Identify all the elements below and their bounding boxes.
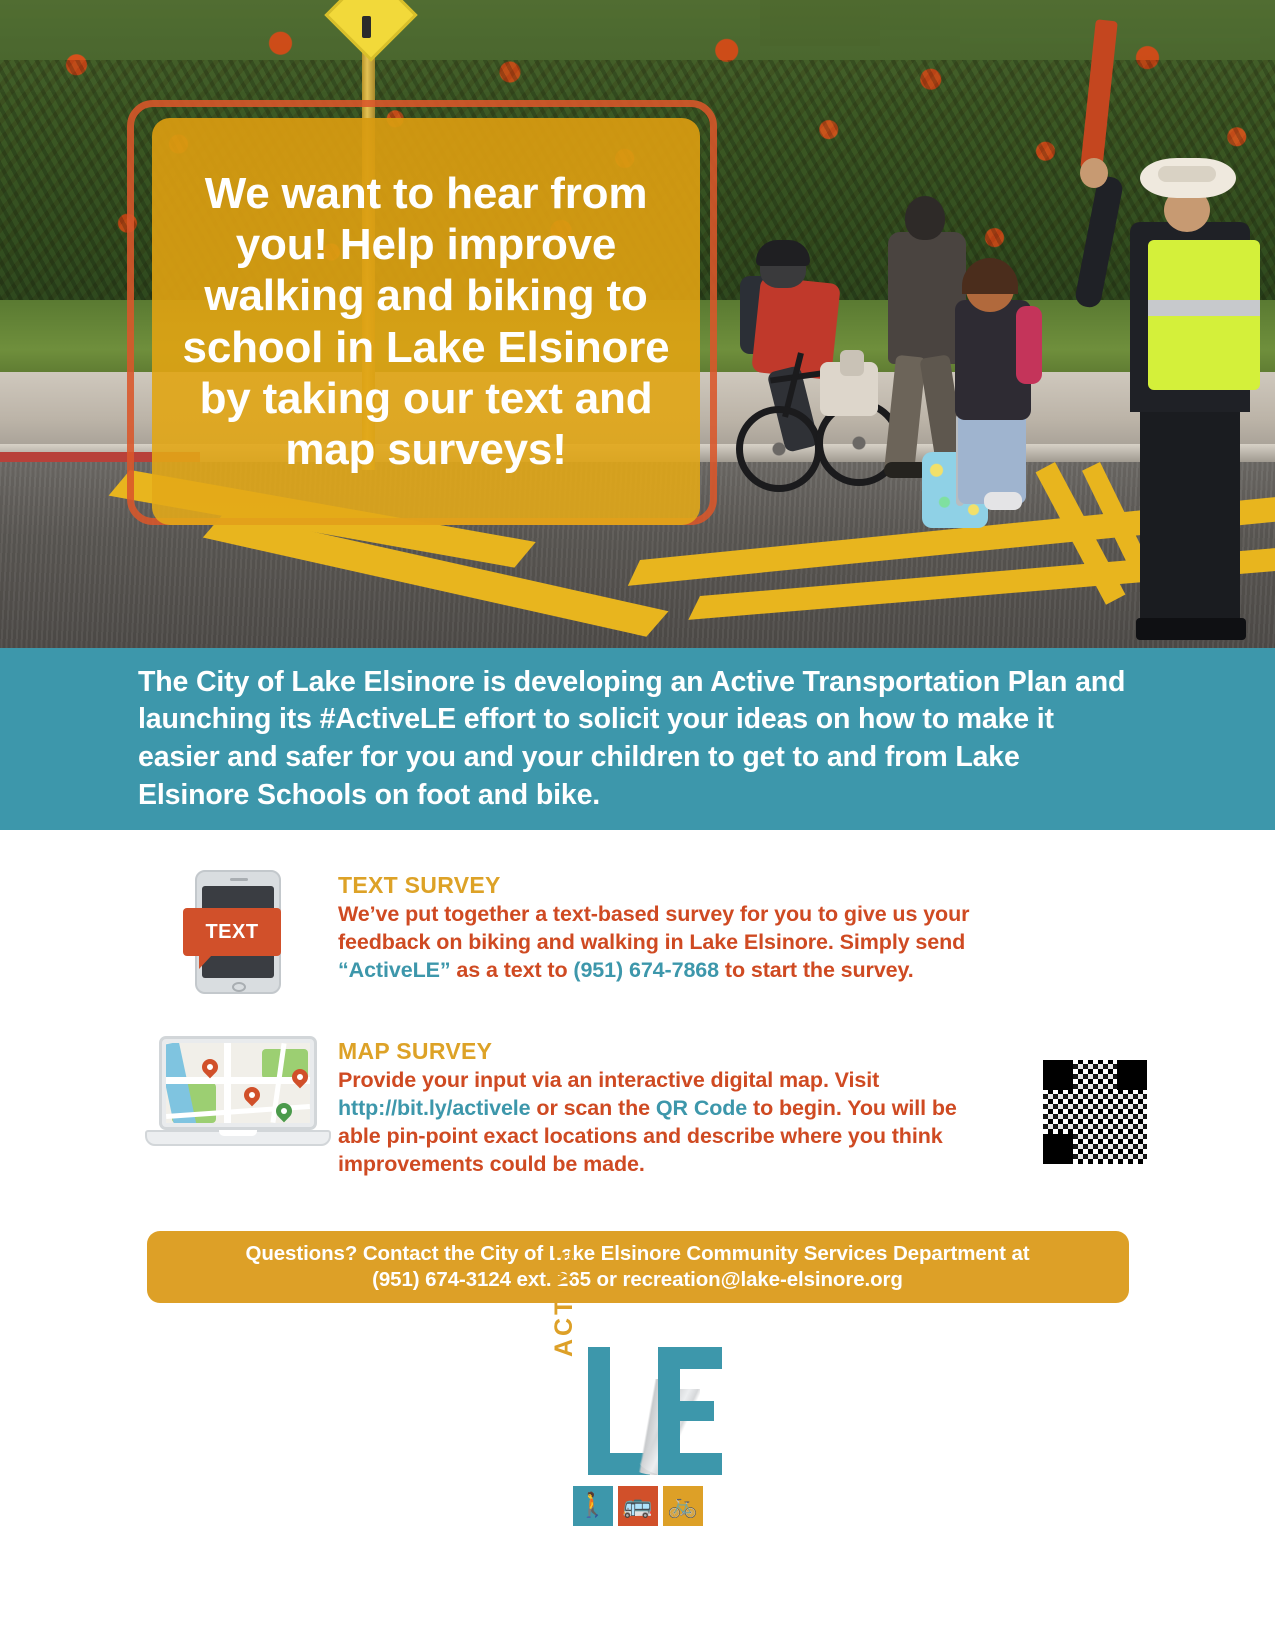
bicycle-helmet-icon	[756, 240, 810, 266]
text-survey-phone-number[interactable]: (951) 674-7868	[573, 958, 719, 982]
hat-band	[1158, 166, 1216, 182]
map-survey-content: MAP SURVEY Provide your input via an int…	[338, 1032, 1015, 1179]
map-survey-body: Provide your input via an interactive di…	[338, 1067, 998, 1179]
logo-letter-e-bar	[658, 1401, 714, 1421]
page-title: We want to hear from you! Help improve w…	[174, 168, 678, 474]
text-survey-part: as a text to	[451, 958, 574, 982]
contact-banner: Questions? Contact the City of Lake Elsi…	[147, 1231, 1129, 1303]
text-survey-part: to start the survey.	[719, 958, 914, 982]
text-survey-body: We’ve put together a text-based survey f…	[338, 901, 998, 985]
child-shoe	[984, 492, 1022, 510]
text-bubble-icon: TEXT	[183, 908, 281, 956]
logo-letter-e-bar	[658, 1453, 722, 1475]
child-pants	[958, 408, 1026, 504]
transit-icon: 🚌	[618, 1486, 658, 1526]
phone-speaker	[230, 878, 248, 881]
survey-sections: TEXT TEXT SURVEY We’ve put together a te…	[0, 830, 1275, 1179]
pedestrian-figure-icon	[362, 16, 371, 38]
laptop-map-icon	[145, 1036, 331, 1160]
text-survey-row: TEXT TEXT SURVEY We’ve put together a te…	[0, 866, 1275, 994]
laptop-trackpad-notch	[219, 1130, 257, 1136]
logo-mode-icons: 🚶 🚌 🚲	[573, 1486, 703, 1526]
map-survey-title: MAP SURVEY	[338, 1038, 1015, 1065]
intro-band: The City of Lake Elsinore is developing …	[0, 648, 1275, 830]
bicycle-wheel	[736, 406, 822, 492]
map-graphic	[166, 1043, 310, 1123]
guard-shoes	[1136, 618, 1246, 640]
text-survey-part: We’ve put together a text-based survey f…	[338, 902, 969, 954]
child-sleeve	[1016, 306, 1042, 384]
text-survey-title: TEXT SURVEY	[338, 872, 1175, 899]
pedestrian-icon: 🚶	[573, 1486, 613, 1526]
active-le-logo: ACTIVE 🚶 🚌 🚲	[538, 1347, 738, 1526]
phone-text-message-icon: TEXT	[195, 870, 281, 994]
qr-code-column	[1015, 1032, 1175, 1164]
logo-letter-e-bar	[658, 1347, 722, 1369]
map-survey-qr-reference: QR Code	[656, 1096, 747, 1120]
text-survey-content: TEXT SURVEY We’ve put together a text-ba…	[338, 866, 1175, 985]
map-survey-part: or scan the	[531, 1096, 656, 1120]
map-road	[166, 1077, 310, 1084]
guard-hand	[1080, 158, 1108, 188]
logo-vertical-word: ACTIVE	[550, 1247, 579, 1357]
map-survey-part: Provide your input via an interactive di…	[338, 1068, 879, 1092]
text-survey-keyword: “ActiveLE”	[338, 958, 451, 982]
shopping-bag-handle	[840, 350, 864, 376]
bicycle-icon: 🚲	[663, 1486, 703, 1526]
headline-box: We want to hear from you! Help improve w…	[152, 118, 700, 525]
map-survey-icon-column	[138, 1032, 338, 1160]
laptop-screen	[159, 1036, 317, 1130]
vest-reflective-strip	[1148, 300, 1260, 316]
text-survey-icon-column: TEXT	[138, 866, 338, 994]
contact-line-2[interactable]: (951) 674-3124 ext. 265 or recreation@la…	[372, 1267, 903, 1293]
map-pin-icon	[241, 1084, 264, 1107]
qr-code-icon[interactable]	[1043, 1060, 1147, 1164]
logo-mark: ACTIVE	[550, 1347, 726, 1479]
guard-legs	[1140, 400, 1240, 625]
hero-photo: We want to hear from you! Help improve w…	[0, 0, 1275, 648]
contact-line-1: Questions? Contact the City of Lake Elsi…	[245, 1241, 1029, 1267]
map-survey-row: MAP SURVEY Provide your input via an int…	[0, 1032, 1275, 1179]
adult-head	[905, 196, 945, 240]
phone-home-button	[232, 982, 246, 992]
map-survey-url[interactable]: http://bit.ly/activele	[338, 1096, 531, 1120]
map-pin-icon	[199, 1056, 222, 1079]
intro-paragraph: The City of Lake Elsinore is developing …	[0, 664, 1275, 814]
